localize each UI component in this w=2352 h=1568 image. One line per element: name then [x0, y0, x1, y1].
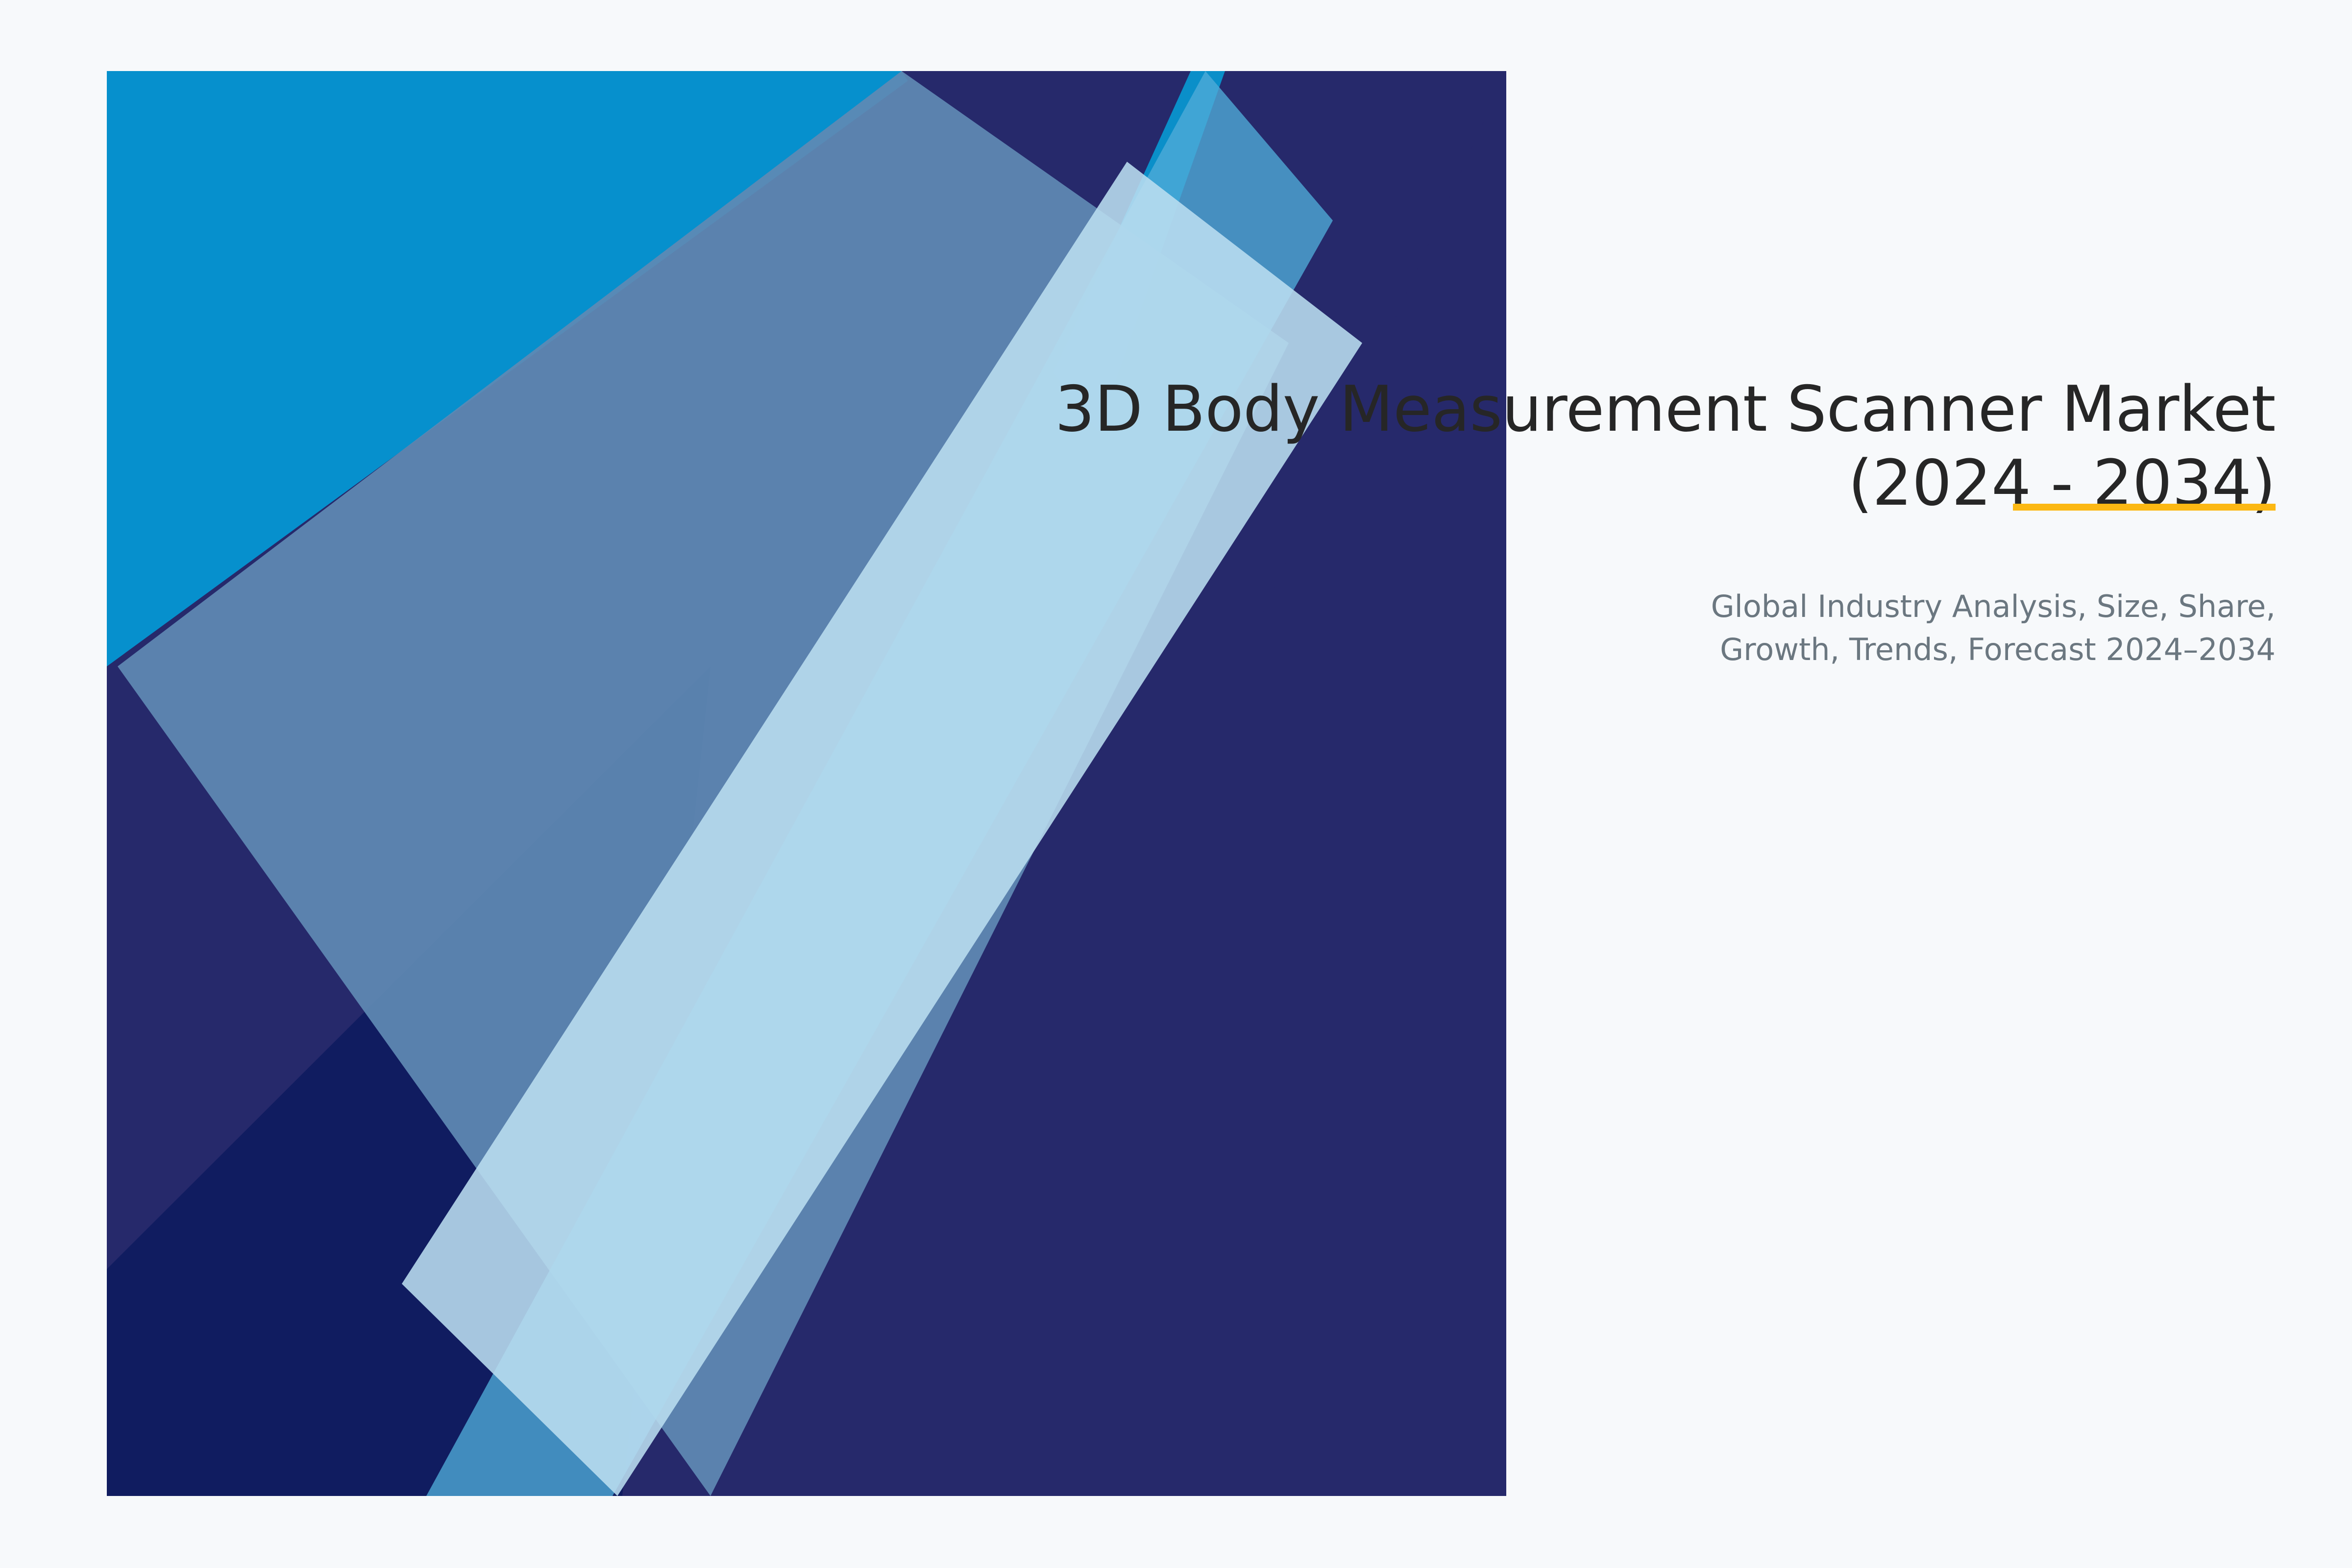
shape-slate-parallelogram [118, 71, 1289, 1496]
shape-navy-main [107, 71, 1506, 1496]
page-title: 3D Body Measurement Scanner Market (2024… [1002, 372, 2276, 520]
page-subtitle: Global Industry Analysis, Size, Share, G… [1002, 585, 2276, 671]
page-subtitle-line-1: Global Industry Analysis, Size, Share, [1002, 585, 2276, 628]
cover-page: 3D Body Measurement Scanner Market (2024… [0, 0, 2352, 1568]
cover-text-block: 3D Body Measurement Scanner Market (2024… [1002, 372, 2276, 671]
shape-deep-navy-wedge [107, 666, 710, 1496]
page-subtitle-line-2: Growth, Trends, Forecast 2024–2034 [1002, 628, 2276, 671]
title-accent-underline [2013, 504, 2276, 511]
abstract-geometric-cover-graphic [0, 0, 2352, 1568]
page-title-line-1: 3D Body Measurement Scanner Market [1002, 372, 2276, 446]
shape-sky-blue-wedge [426, 71, 1333, 1496]
shape-pale-blue-parallelogram [402, 162, 1362, 1496]
shape-cyan-base [107, 71, 1506, 1496]
